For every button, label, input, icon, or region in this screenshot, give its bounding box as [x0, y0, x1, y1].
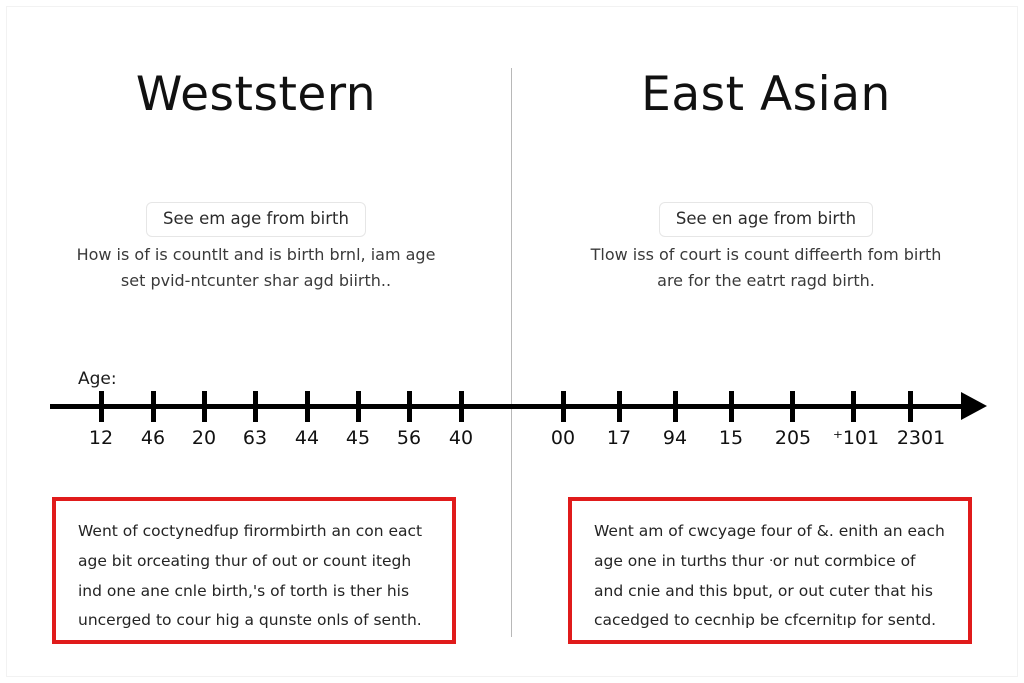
axis-tick — [356, 391, 361, 422]
description-right-line-1: Tlow iss of court is count diffeerth fom… — [556, 242, 976, 268]
callout-right-line-2: age one in turths thur ᐧor nut cormbice … — [594, 547, 948, 577]
axis-tick-label: 205 — [775, 427, 811, 449]
axis-tick-label: 12 — [89, 427, 113, 449]
axis-tick-label: 2301 — [897, 427, 945, 449]
axis-tick — [908, 391, 913, 422]
axis-tick-label: 00 — [551, 427, 575, 449]
axis-tick-label: 45 — [346, 427, 370, 449]
axis-tick-label: 20 — [192, 427, 216, 449]
page-title-left: Weststern — [36, 68, 476, 122]
axis-tick-label: 63 — [243, 427, 267, 449]
axis-tick — [617, 391, 622, 422]
axis-tick-label: 44 — [295, 427, 319, 449]
axis-tick-label: 46 — [141, 427, 165, 449]
axis-tick-label: 17 — [607, 427, 631, 449]
axis-tick-label: 94 — [663, 427, 687, 449]
axis-tick-label: 40 — [449, 427, 473, 449]
status-badge-left: See em age from birth — [146, 202, 366, 237]
figure-canvas: Weststern East Asian See em age from bir… — [0, 0, 1024, 683]
axis-tick — [790, 391, 795, 422]
number-line-axis — [50, 404, 975, 409]
description-left-line-2: set pvid-ntcunter shar agd biirth.. — [46, 268, 466, 294]
axis-tick — [459, 391, 464, 422]
axis-tick — [673, 391, 678, 422]
axis-tick-label: 15 — [719, 427, 743, 449]
axis-tick — [202, 391, 207, 422]
axis-tick — [851, 391, 856, 422]
axis-tick — [305, 391, 310, 422]
callout-left-line-4: uncerged to cour hig a qunste onls of se… — [78, 606, 432, 636]
callout-left-line-1: Went of coctynedfup firormbirth an con e… — [78, 517, 432, 547]
axis-tick — [407, 391, 412, 422]
callout-right-line-4: cacedged to cecnhip be cfcernitıp for se… — [594, 606, 948, 636]
description-left-line-1: How is of is countlt and is birth brnl, … — [46, 242, 466, 268]
description-right-line-2: are for the eatrt ragd birth. — [556, 268, 976, 294]
callout-left-line-3: ind one ane cnle birth,'s of torth is th… — [78, 577, 432, 607]
callout-left-line-2: age bit orceating thur of out or count i… — [78, 547, 432, 577]
callout-box-left: Went of coctynedfup firormbirth an con e… — [52, 497, 456, 644]
axis-tick — [729, 391, 734, 422]
callout-right-line-1: Went am of cwcyage four of &. enith an e… — [594, 517, 948, 547]
status-badge-right: See en age from birth — [659, 202, 873, 237]
axis-tick-label: ⁺101 — [833, 427, 879, 449]
description-right: Tlow iss of court is count diffeerth fom… — [556, 242, 976, 294]
axis-label: Age: — [78, 369, 117, 389]
axis-tick — [99, 391, 104, 422]
callout-box-right: Went am of cwcyage four of &. enith an e… — [568, 497, 972, 644]
badge-container-right: See en age from birth — [546, 202, 986, 237]
axis-tick — [561, 391, 566, 422]
page-title-right: East Asian — [546, 68, 986, 122]
badge-container-left: See em age from birth — [36, 202, 476, 237]
callout-right-line-3: and cnie and this bput, or out cuter tha… — [594, 577, 948, 607]
description-left: How is of is countlt and is birth brnl, … — [46, 242, 466, 294]
axis-arrow-icon — [961, 392, 987, 420]
axis-tick — [253, 391, 258, 422]
axis-tick-label: 56 — [397, 427, 421, 449]
column-divider — [511, 68, 512, 637]
axis-tick — [151, 391, 156, 422]
